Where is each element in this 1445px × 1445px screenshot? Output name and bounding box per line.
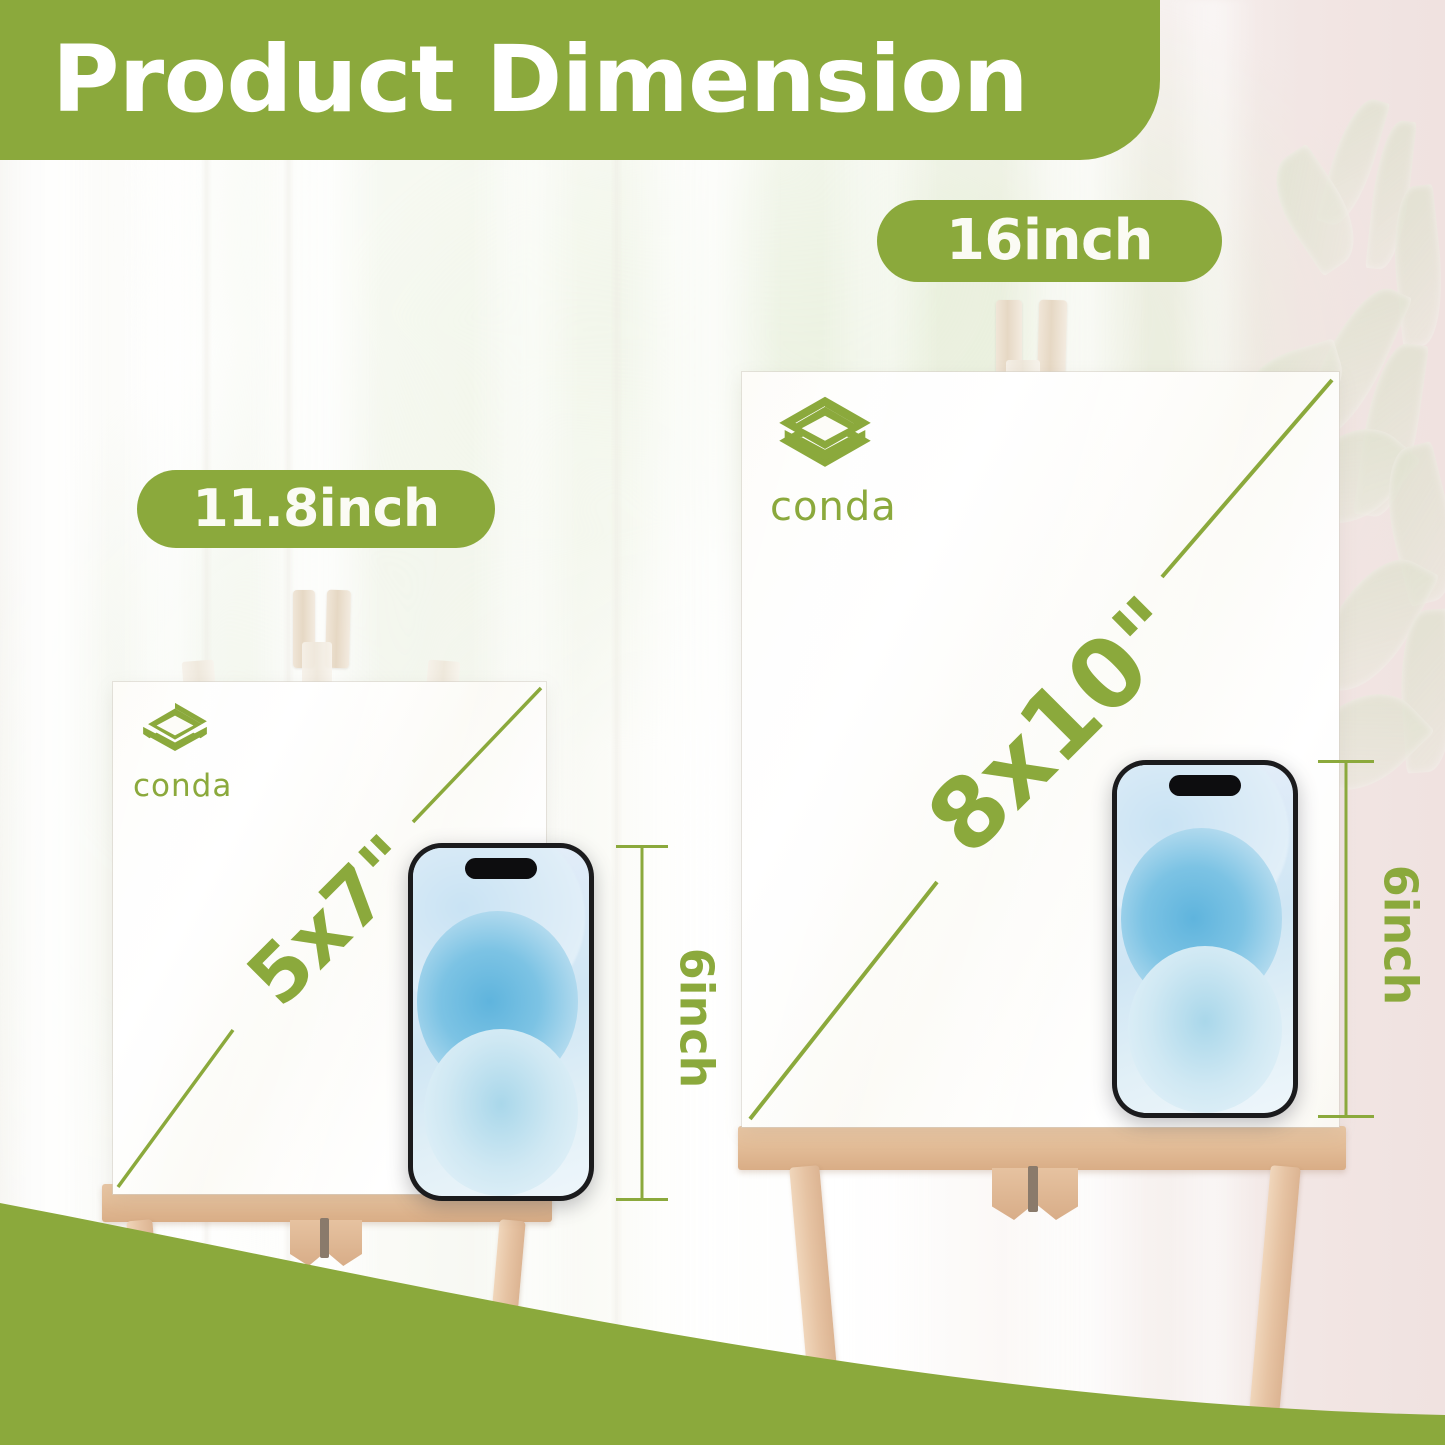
badge-easel-height-small: 11.8inch [137, 470, 495, 548]
badge-easel-height-large: 16inch [877, 200, 1222, 282]
phone-screen [1117, 765, 1293, 1113]
conda-logo-text: conda [770, 484, 897, 530]
product-dimension-infographic: conda 8x10" 6inch [0, 0, 1445, 1445]
dynamic-island [465, 858, 537, 879]
conda-logo-icon [779, 396, 871, 482]
conda-logo-text: conda [133, 768, 232, 804]
wallpaper-blob [1128, 946, 1283, 1113]
measure-label-left: 6inch [669, 948, 723, 1089]
conda-logo-icon [139, 700, 211, 768]
phone-mockup-right [1112, 760, 1298, 1118]
dynamic-island [1169, 775, 1241, 796]
footer-curve [0, 1115, 1445, 1445]
measure-right: 6inch [1306, 760, 1386, 1118]
page-title: Product Dimension [52, 24, 1132, 136]
measure-label-right: 6inch [1373, 865, 1427, 1006]
